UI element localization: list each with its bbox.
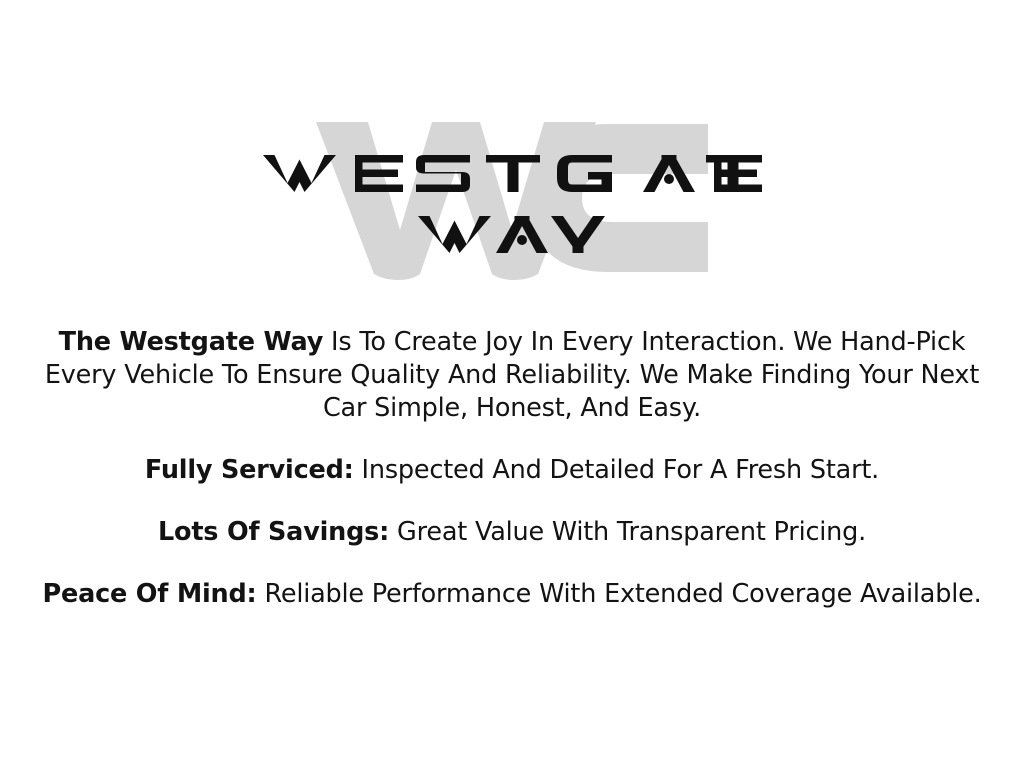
westgate-way-wordmark: [0, 96, 1024, 296]
tagline-peace-of-mind: Peace Of Mind: Reliable Performance With…: [0, 578, 1024, 611]
tagline-fully-serviced: Fully Serviced: Inspected And Detailed F…: [0, 454, 1024, 487]
intro-lead: The Westgate Way: [59, 327, 324, 357]
tagline-text: Inspected And Detailed For A Fresh Start…: [354, 455, 879, 485]
body-copy: The Westgate Way Is To Create Joy In Eve…: [0, 326, 1024, 611]
intro-paragraph: The Westgate Way Is To Create Joy In Eve…: [0, 326, 1024, 425]
page-root: The Westgate Way Is To Create Joy In Eve…: [0, 0, 1024, 768]
tagline-text: Great Value With Transparent Pricing.: [389, 517, 866, 547]
tagline-lots-of-savings: Lots Of Savings: Great Value With Transp…: [0, 516, 1024, 549]
tagline-label: Lots Of Savings:: [158, 517, 389, 547]
tagline-text: Reliable Performance With Extended Cover…: [257, 579, 982, 609]
brand-logo-block: [0, 96, 1024, 296]
tagline-label: Peace Of Mind:: [42, 579, 256, 609]
tagline-label: Fully Serviced:: [145, 455, 354, 485]
